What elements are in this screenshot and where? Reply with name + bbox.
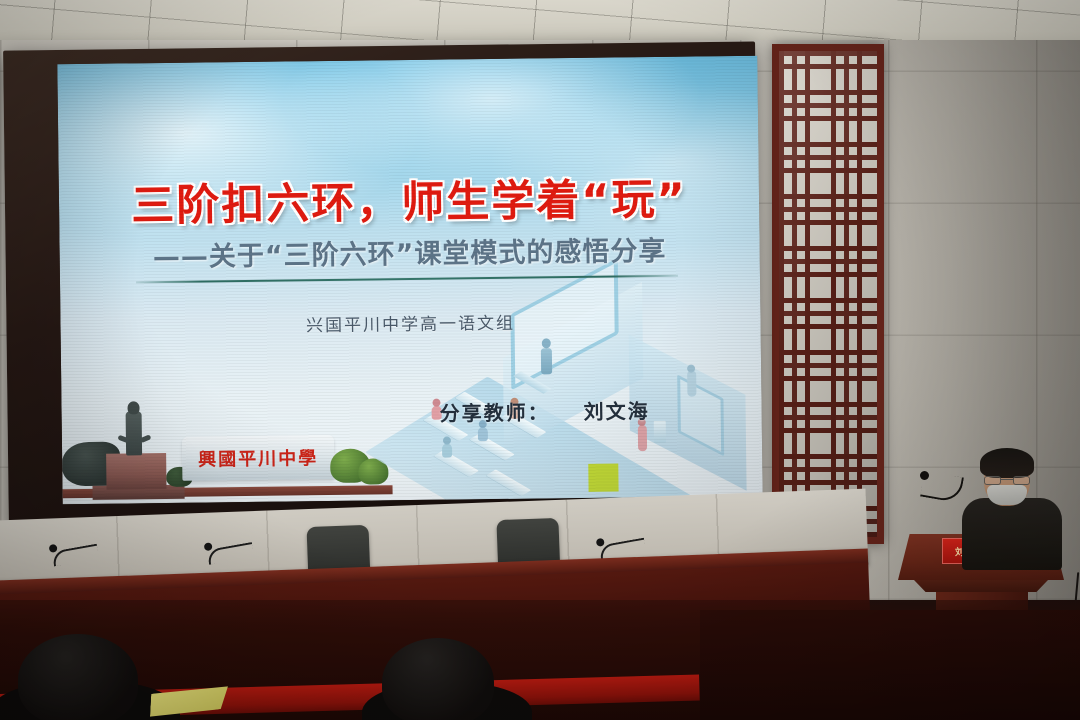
slide-presenter-line: 分享教师：刘文海 <box>439 395 649 427</box>
lattice-screen-panel <box>772 44 884 544</box>
glasses-bridge <box>1001 479 1013 480</box>
glasses-lens-right <box>1013 476 1030 485</box>
slide-subtitle: ——关于“三阶六环”课堂模式的感悟分享 <box>59 228 759 276</box>
conference-hall-photo: 興國平川中學 <box>0 0 1080 720</box>
statue-figure-body <box>126 411 143 455</box>
speaker-hair <box>980 448 1034 478</box>
statue-plinth <box>106 453 166 490</box>
presentation-slide: 興國平川中學 <box>57 56 762 505</box>
classroom-teacher-head <box>542 338 551 348</box>
classroom-standing-figure <box>687 371 696 397</box>
classroom-student <box>442 443 452 457</box>
speaker-torso <box>962 498 1062 570</box>
classroom-standing-figure <box>638 425 647 451</box>
campus-illustration: 興國平川中學 <box>61 350 393 504</box>
classroom-standing-figure-head <box>687 365 695 373</box>
audience-head <box>18 634 138 720</box>
lattice-pattern <box>779 51 877 537</box>
classroom-student <box>478 427 488 441</box>
audience-head <box>382 638 494 720</box>
presenter-label: 分享教师： <box>439 400 549 425</box>
slide-title: 三阶扣六环，师生学着“玩” <box>59 164 760 235</box>
foreground-right-dark <box>700 610 1080 720</box>
speaker-person <box>958 452 1068 562</box>
classroom-teacher-body <box>541 348 552 374</box>
classroom-cabinet <box>654 421 666 443</box>
classroom-student-head <box>443 437 451 445</box>
face-mask-icon <box>987 485 1027 505</box>
podium-mic-capsule <box>920 471 929 480</box>
presenter-name: 刘文海 <box>583 399 649 424</box>
accent-block <box>588 463 618 491</box>
campus-sign-text: 興國平川中學 <box>182 444 334 472</box>
campus-sign-board: 興國平川中學 <box>182 435 335 481</box>
glasses-lens-left <box>984 476 1001 485</box>
statue-figure-head <box>127 401 139 414</box>
podium-microphone <box>922 474 966 514</box>
glasses-icon <box>984 476 1030 485</box>
projection-screen: 興國平川中學 <box>57 56 762 505</box>
